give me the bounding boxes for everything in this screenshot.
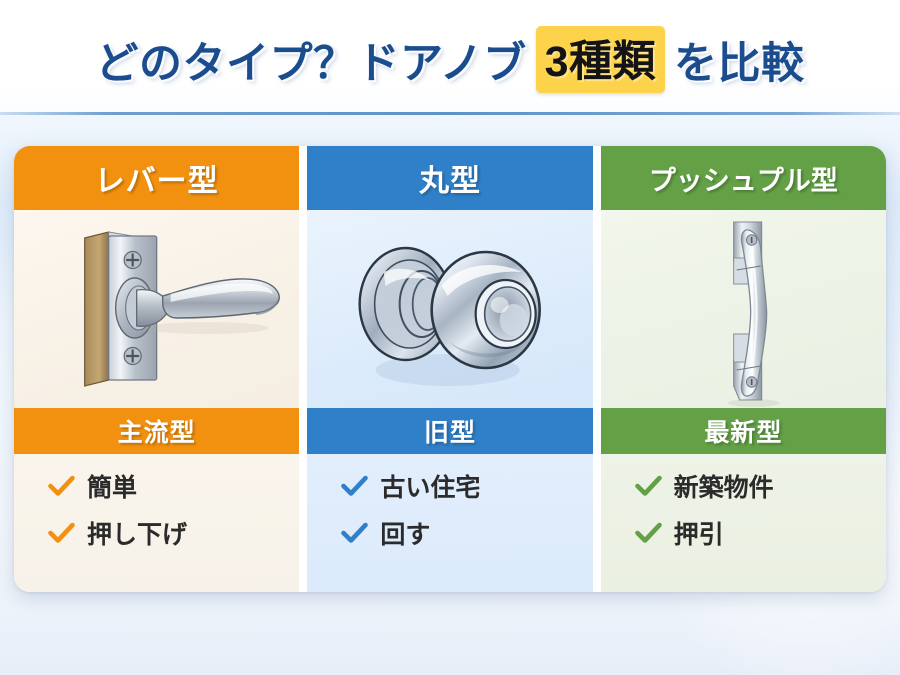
column-subheader-push: 最新型 [601,408,886,454]
column-header-lever: レバー型 [14,146,299,210]
page-title: どのタイプ？ドアノブ3種類を比較 [95,26,804,93]
column-subheader-round: 旧型 [307,408,592,454]
list-item: 簡単 [48,468,299,504]
list-item-label: 押引 [674,515,724,551]
check-icon [635,522,662,544]
list-item-label: 新築物件 [674,468,774,504]
column-header-round: 丸型 [307,146,592,210]
column-header-push: プッシュプル型 [601,146,886,210]
column-image-lever [14,210,299,408]
list-item-label: 古い住宅 [380,468,480,504]
comparison-card: レバー型 [14,146,886,592]
title-divider [0,112,900,115]
column-bullets-push: 新築物件 押引 [601,454,886,592]
check-icon [48,475,75,497]
column-subheader-lever: 主流型 [14,408,299,454]
round-knob-illustration [307,210,592,408]
check-icon [341,475,368,497]
lever-handle-illustration [14,210,299,408]
column-round: 丸型 [299,146,592,592]
column-bullets-round: 古い住宅 回す [307,454,592,592]
infographic-page: どのタイプ？ドアノブ3種類を比較 レバー型 [0,0,900,675]
page-title-part2: を比較 [674,29,805,91]
list-item-label: 簡単 [87,468,137,504]
check-icon [48,522,75,544]
list-item: 新築物件 [635,468,886,504]
title-bar: どのタイプ？ドアノブ3種類を比較 [0,0,900,113]
column-image-push [601,210,886,408]
list-item: 押引 [635,515,886,551]
check-icon [341,522,368,544]
list-item: 回す [341,515,592,551]
push-pull-handle-illustration [601,210,886,408]
column-lever: レバー型 [14,146,299,592]
column-image-round [307,210,592,408]
list-item: 古い住宅 [341,468,592,504]
column-bullets-lever: 簡単 押し下げ [14,454,299,592]
page-title-highlight: 3種類 [536,26,665,93]
list-item-label: 押し下げ [87,515,187,551]
list-item: 押し下げ [48,515,299,551]
check-icon [635,475,662,497]
list-item-label: 回す [380,515,430,551]
column-push: プッシュプル型 [593,146,886,592]
page-title-part1: どのタイプ？ドアノブ [95,29,526,91]
